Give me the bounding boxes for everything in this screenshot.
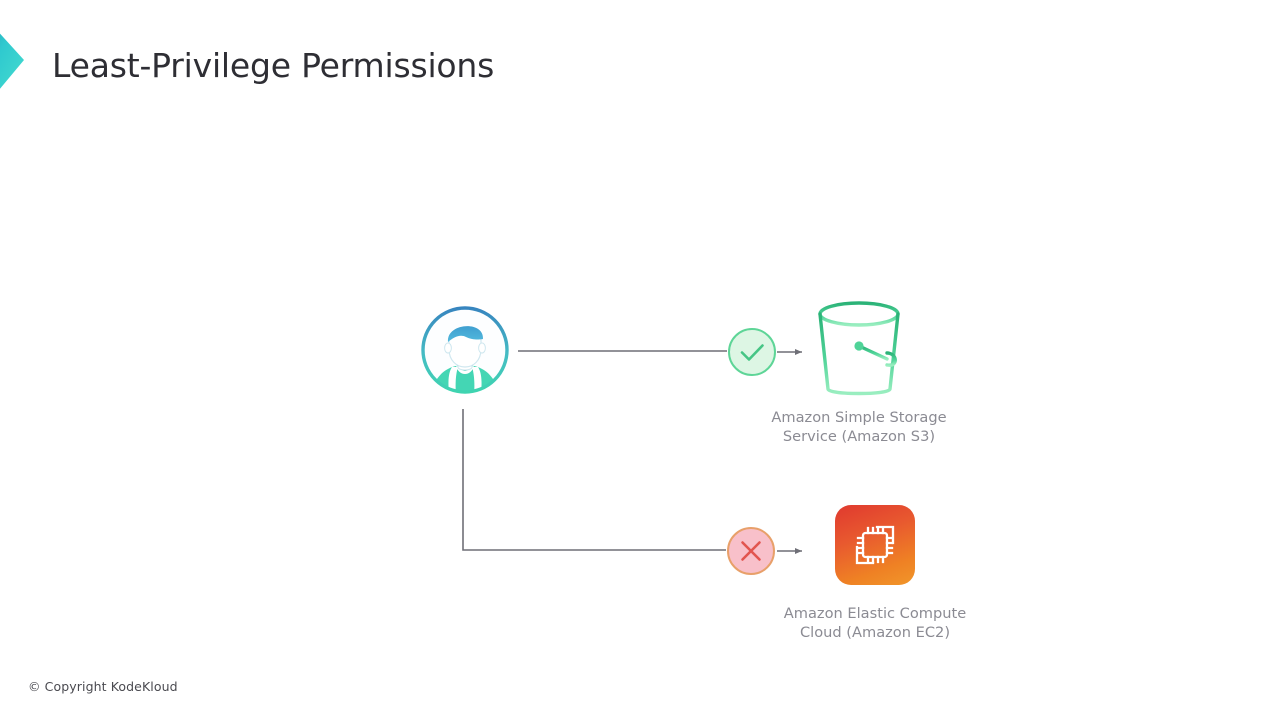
service-label-ec2-line-2: Cloud (Amazon EC2) xyxy=(760,623,990,642)
service-label-s3-line-2: Service (Amazon S3) xyxy=(744,427,974,446)
connector-lines xyxy=(0,0,1280,720)
service-node-s3[interactable]: Amazon Simple Storage Service (Amazon S3… xyxy=(744,296,974,446)
footer-copyright: © Copyright KodeKloud xyxy=(28,679,178,694)
permission-flow-diagram: Amazon Simple Storage Service (Amazon S3… xyxy=(0,0,1280,720)
amazon-s3-bucket-icon xyxy=(744,296,974,402)
service-label-s3-line-1: Amazon Simple Storage xyxy=(744,408,974,427)
ec2-tile xyxy=(835,505,915,585)
cpu-chip-icon xyxy=(847,517,903,573)
service-label-s3: Amazon Simple Storage Service (Amazon S3… xyxy=(744,408,974,446)
amazon-ec2-instance-icon xyxy=(760,492,990,598)
service-node-ec2[interactable]: Amazon Elastic Compute Cloud (Amazon EC2… xyxy=(760,492,990,642)
service-label-ec2-line-1: Amazon Elastic Compute xyxy=(760,604,990,623)
user-avatar-icon[interactable] xyxy=(418,303,512,397)
slide-canvas: Least-Privilege Permissions xyxy=(0,0,1280,720)
service-label-ec2: Amazon Elastic Compute Cloud (Amazon EC2… xyxy=(760,604,990,642)
connector-actor-to-deny-badge xyxy=(463,409,726,550)
